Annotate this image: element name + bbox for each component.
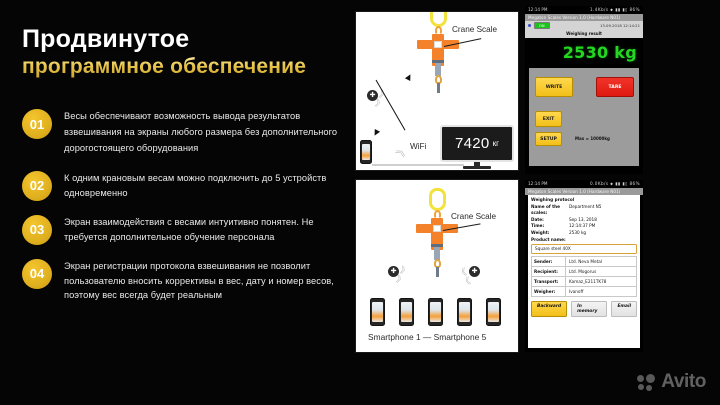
write-button[interactable]: WRITE <box>535 77 573 97</box>
protocol-field: Name of the scales: Department N5 <box>531 204 637 217</box>
smartphone-icon <box>370 298 385 326</box>
crane-scale-label: Crane Scale <box>452 25 497 34</box>
android-status-bar: 12:14 PM 0.0Kb/s ⬥ ▮▮ ▮▯ 86% <box>525 180 643 188</box>
slide-canvas: Продвинутое программное обеспечение 01 В… <box>0 0 720 405</box>
left-content-panel: Продвинутое программное обеспечение 01 В… <box>0 0 352 405</box>
monitor-weight-value: 7420 <box>455 135 490 152</box>
monitor-weight-unit: кг <box>493 139 499 148</box>
email-button[interactable]: Email <box>611 301 637 317</box>
control-keypad: WRITE TARE EXIT SETUP Max = 10000kg <box>529 68 639 166</box>
list-item: 02 К одним крановым весам можно подключи… <box>22 170 340 201</box>
table-row: Sender: Ltd. Neva Metal <box>532 257 636 267</box>
status-icons: 1.4Kb/s ⬥ ▮▮ ▮▯ 86% <box>590 8 640 12</box>
app-screenshot-weighing: 12:14 PM 1.4Kb/s ⬥ ▮▮ ▮▯ 86% Megaton Sca… <box>525 6 643 174</box>
field-value: 2530 kg <box>569 230 586 237</box>
scale-display-window <box>433 225 441 232</box>
row-value[interactable]: Ivanoff <box>566 287 636 296</box>
exit-button[interactable]: EXIT <box>535 111 562 127</box>
wifi-label: WiFi <box>410 142 426 151</box>
signal-wave-icon: 》 <box>374 99 385 110</box>
table-row: Transport: Kamaz_E211TK78 <box>532 277 636 287</box>
row-label: Weigher: <box>532 287 566 296</box>
bullet-text: К одним крановым весам можно подключить … <box>64 170 340 200</box>
product-name-input[interactable]: Square steel 40X <box>531 244 637 254</box>
status-icons: 0.0Kb/s ⬥ ▮▮ ▮▯ 86% <box>590 182 640 186</box>
product-name-label: Product name: <box>531 237 637 242</box>
list-item: 01 Весы обеспечивают возможность вывода … <box>22 108 340 157</box>
smartphone-icon <box>457 298 472 326</box>
weight-readout: 2530 kg <box>525 38 643 68</box>
bullet-number-badge: 02 <box>22 171 52 201</box>
bullet-text: Экран регистрации протокола взвешивания … <box>64 258 340 303</box>
max-capacity-label: Max = 10000kg <box>575 136 610 141</box>
scale-pin <box>436 267 439 277</box>
feature-list: 01 Весы обеспечивают возможность вывода … <box>22 108 340 316</box>
scale-pin <box>437 83 440 93</box>
row-label: Sender: <box>532 257 566 266</box>
field-value: Department N5 <box>569 204 601 217</box>
avito-watermark: Avito <box>637 371 706 393</box>
smartphone-icon <box>360 140 372 164</box>
avito-wordmark: Avito <box>661 371 706 393</box>
table-row: Recipient: Ltd. Mogorus <box>532 267 636 277</box>
crane-hook-ring-icon <box>429 188 446 211</box>
backward-button[interactable]: Backward <box>531 301 567 317</box>
arrow-head-icon <box>372 129 380 137</box>
signal-wave-icon: 》 <box>395 275 406 286</box>
protocol-actions: Backward In memory Email <box>531 301 637 317</box>
smartphone-icon <box>399 298 414 326</box>
status-time: 12:14 PM <box>528 8 548 12</box>
row-value[interactable]: Ltd. Mogorus <box>566 267 636 276</box>
bullet-text: Весы обеспечивают возможность вывода рез… <box>64 108 340 157</box>
party-table: Sender: Ltd. Neva Metal Recipient: Ltd. … <box>531 256 637 297</box>
connection-timestamp: 13.09.2018 12:14:21 <box>600 23 640 28</box>
smartphone-icon <box>486 298 501 326</box>
setup-button[interactable]: SETUP <box>535 132 562 146</box>
wifi-wave-icon: 》 <box>396 144 411 159</box>
title-line-2: программное обеспечение <box>22 55 306 79</box>
protocol-heading: Weighing protocol <box>531 197 637 202</box>
list-item: 04 Экран регистрации протокола взвешиван… <box>22 258 340 303</box>
arrow-head-icon <box>405 73 413 81</box>
table-surface <box>372 164 464 166</box>
app-title-bar: Megaton Scales Version 1.0 (Hardware N01… <box>525 14 643 21</box>
table-row: Weigher: Ivanoff <box>532 287 636 297</box>
row-value[interactable]: Kamaz_E211TK78 <box>566 277 636 286</box>
weighing-result-label: Weighing result <box>525 30 643 38</box>
field-label: Name of the scales: <box>531 204 569 217</box>
in-memory-button[interactable]: In memory <box>571 301 607 317</box>
status-time: 12:14 PM <box>528 182 548 186</box>
bullet-number-badge: 04 <box>22 259 52 289</box>
scale-display-window <box>434 41 442 48</box>
row-value[interactable]: Ltd. Neva Metal <box>566 257 636 266</box>
avito-dots-icon <box>637 374 656 391</box>
bluetooth-icon: ✚ <box>469 266 480 277</box>
protocol-field: Weight: 2530 kg <box>531 230 637 237</box>
illustration-five-phones: Crane Scale ✚ 》 》 ✚ 》 》 Smartphone 1 — S… <box>356 180 518 352</box>
protocol-form: Weighing protocol Name of the scales: De… <box>528 195 640 348</box>
connection-row: ON 13.09.2018 12:14:21 <box>525 21 643 30</box>
list-item: 03 Экран взаимодействия с весами интуити… <box>22 214 340 245</box>
app-title-bar: Megaton Scales Version 1.0 (Hardware N01… <box>525 188 643 195</box>
illustration-wifi-display: Crane Scale ✚ 》 》 》 WiFi 7420 кг <box>356 12 518 170</box>
page-title: Продвинутое программное обеспечение <box>22 26 306 79</box>
connection-toggle[interactable]: ON <box>534 22 550 29</box>
title-line-1: Продвинутое <box>22 26 306 53</box>
signal-wave-icon: 》 <box>460 275 471 286</box>
connection-status-dot-icon <box>528 24 531 27</box>
bullet-text: Экран взаимодействия с весами интуитивно… <box>64 214 340 244</box>
bullet-number-badge: 01 <box>22 109 52 139</box>
field-label: Weight: <box>531 230 569 237</box>
crane-scale-label: Crane Scale <box>451 212 496 221</box>
devices-range-label: Smartphone 1 — Smartphone 5 <box>368 332 486 342</box>
row-label: Recipient: <box>532 267 566 276</box>
monitor-base <box>463 166 491 169</box>
tare-button[interactable]: TARE <box>596 77 634 97</box>
display-monitor: 7420 кг <box>440 125 514 162</box>
bullet-number-badge: 03 <box>22 215 52 245</box>
app-screenshot-protocol: 12:14 PM 0.0Kb/s ⬥ ▮▮ ▮▯ 86% Megaton Sca… <box>525 180 643 352</box>
row-label: Transport: <box>532 277 566 286</box>
android-status-bar: 12:14 PM 1.4Kb/s ⬥ ▮▮ ▮▯ 86% <box>525 6 643 14</box>
smartphone-icon <box>428 298 443 326</box>
crane-hook-ring-icon <box>430 12 447 27</box>
